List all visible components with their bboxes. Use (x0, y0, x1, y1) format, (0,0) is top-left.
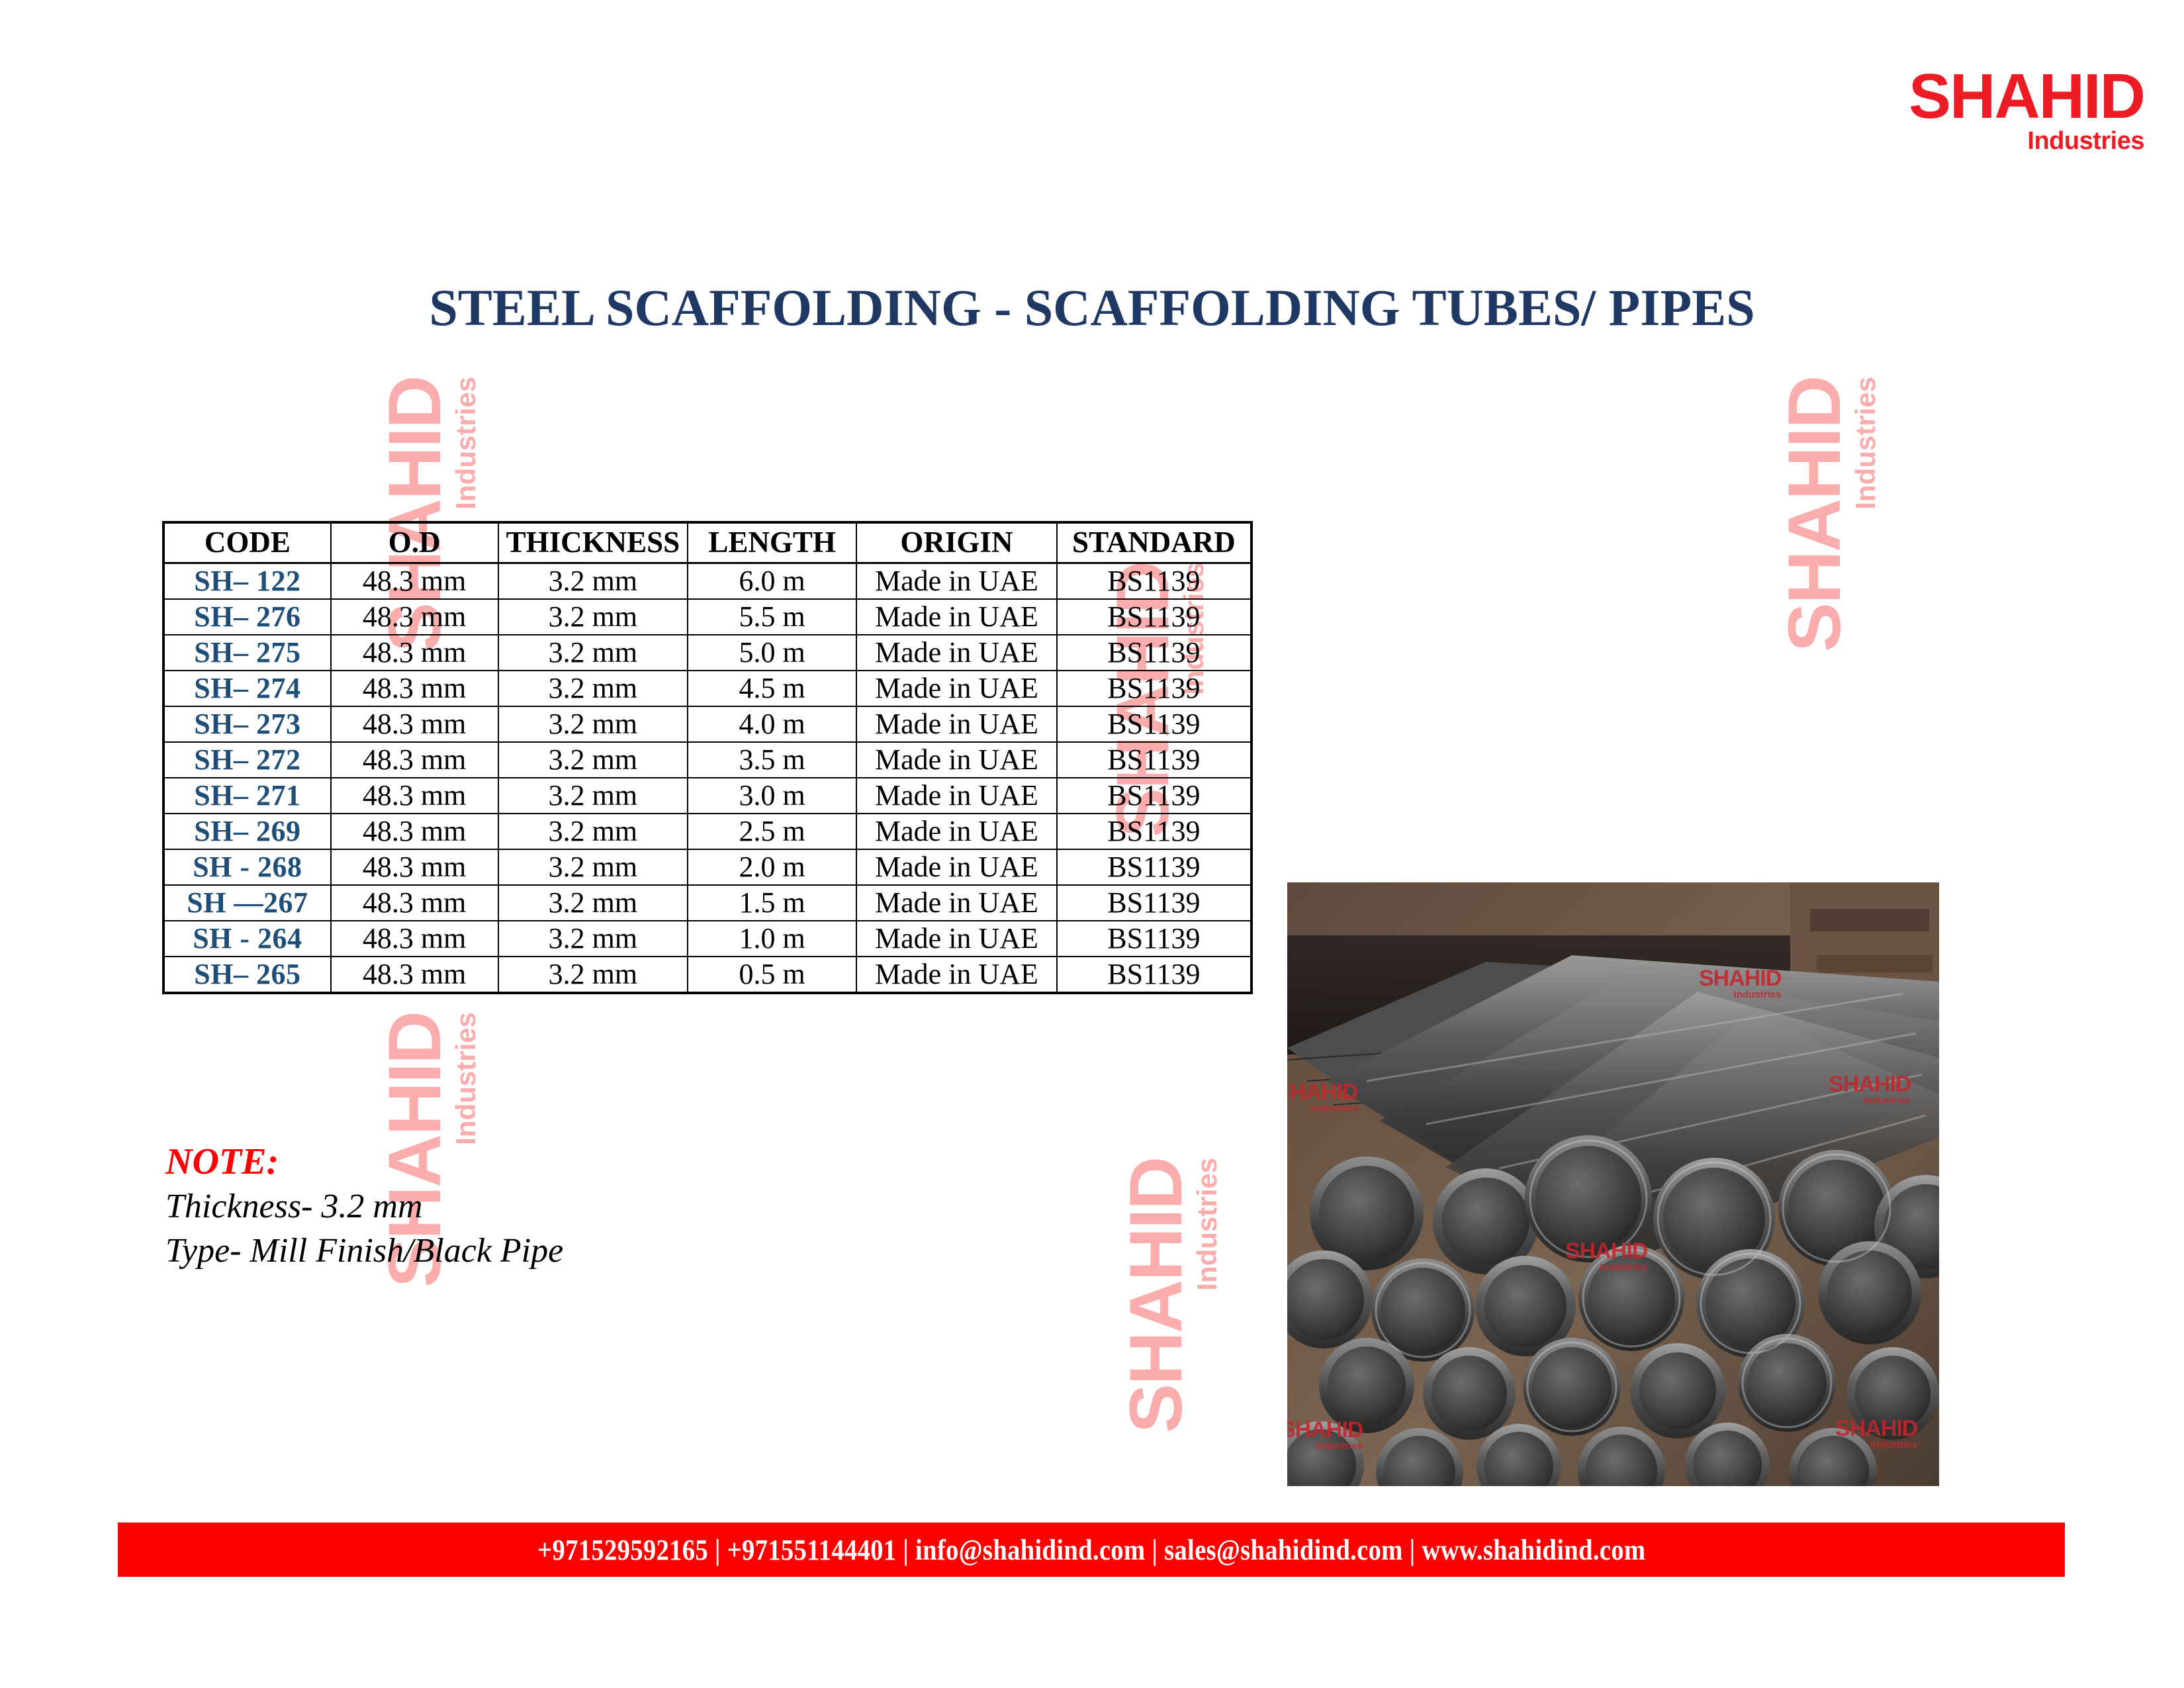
company-logo: SHAHID Industries (1909, 66, 2144, 156)
cell-origin: Made in UAE (856, 742, 1057, 778)
cell-standard: BS1139 (1057, 706, 1251, 742)
logo-tagline: Industries (1909, 128, 2144, 156)
cell-standard: BS1139 (1057, 921, 1251, 957)
cell-od: 48.3 mm (331, 599, 498, 635)
cell-standard: BS1139 (1057, 814, 1251, 849)
cell-standard: BS1139 (1057, 778, 1251, 814)
cell-thickness: 3.2 mm (498, 599, 688, 635)
cell-origin: Made in UAE (856, 957, 1057, 993)
cell-origin: Made in UAE (856, 814, 1057, 849)
cell-standard: BS1139 (1057, 635, 1251, 671)
cell-od: 48.3 mm (331, 671, 498, 706)
cell-code: SH– 275 (163, 635, 331, 671)
cell-origin: Made in UAE (856, 885, 1057, 921)
footer-contact-bar: +971529592165 | +971551144401 | info@sha… (118, 1523, 2065, 1577)
watermark-sub: Industries (1852, 377, 1880, 652)
table-row: SH– 26948.3 mm3.2 mm2.5 mMade in UAEBS11… (163, 814, 1251, 849)
column-header-od: O.D (331, 522, 498, 563)
cell-length: 0.5 m (688, 957, 856, 993)
table-header: CODE O.D THICKNESS LENGTH ORIGIN STANDAR… (163, 522, 1251, 563)
cell-standard: BS1139 (1057, 563, 1251, 600)
column-header-origin: ORIGIN (856, 522, 1057, 563)
cell-length: 4.0 m (688, 706, 856, 742)
cell-thickness: 3.2 mm (498, 849, 688, 885)
column-header-thickness: THICKNESS (498, 522, 688, 563)
cell-length: 4.5 m (688, 671, 856, 706)
cell-origin: Made in UAE (856, 671, 1057, 706)
table-row: SH– 27548.3 mm3.2 mm5.0 mMade in UAEBS11… (163, 635, 1251, 671)
column-header-length: LENGTH (688, 522, 856, 563)
cell-length: 1.0 m (688, 921, 856, 957)
cell-od: 48.3 mm (331, 849, 498, 885)
cell-od: 48.3 mm (331, 921, 498, 957)
cell-thickness: 3.2 mm (498, 635, 688, 671)
cell-length: 1.5 m (688, 885, 856, 921)
watermark-main: SHAHID (1778, 377, 1852, 652)
cell-length: 5.0 m (688, 635, 856, 671)
cell-od: 48.3 mm (331, 706, 498, 742)
cell-code: SH– 274 (163, 671, 331, 706)
note-line-thickness: Thickness- 3.2 mm (165, 1185, 563, 1229)
cell-length: 3.0 m (688, 778, 856, 814)
logo-wordmark: SHAHID (1909, 66, 2144, 126)
note-block: NOTE: Thickness- 3.2 mm Type- Mill Finis… (165, 1139, 563, 1273)
cell-thickness: 3.2 mm (498, 706, 688, 742)
cell-thickness: 3.2 mm (498, 563, 688, 600)
cell-code: SH - 264 (163, 921, 331, 957)
watermark: SHAHID Industries (1778, 377, 1880, 652)
cell-od: 48.3 mm (331, 635, 498, 671)
cell-length: 6.0 m (688, 563, 856, 600)
table-row: SH– 27348.3 mm3.2 mm4.0 mMade in UAEBS11… (163, 706, 1251, 742)
page-title: STEEL SCAFFOLDING - SCAFFOLDING TUBES/ P… (0, 278, 2184, 338)
cell-length: 2.5 m (688, 814, 856, 849)
note-line-type: Type- Mill Finish/Black Pipe (165, 1229, 563, 1274)
cell-origin: Made in UAE (856, 849, 1057, 885)
table-row: SH - 26448.3 mm3.2 mm1.0 mMade in UAEBS1… (163, 921, 1251, 957)
cell-thickness: 3.2 mm (498, 778, 688, 814)
table-row: SH– 27648.3 mm3.2 mm5.5 mMade in UAEBS11… (163, 599, 1251, 635)
table-row: SH - 26848.3 mm3.2 mm2.0 mMade in UAEBS1… (163, 849, 1251, 885)
cell-standard: BS1139 (1057, 742, 1251, 778)
cell-thickness: 3.2 mm (498, 814, 688, 849)
cell-code: SH– 271 (163, 778, 331, 814)
cell-od: 48.3 mm (331, 563, 498, 600)
cell-thickness: 3.2 mm (498, 957, 688, 993)
cell-code: SH– 273 (163, 706, 331, 742)
cell-thickness: 3.2 mm (498, 885, 688, 921)
product-photo: SHAHID Industries SHAHID Industries SHAH… (1287, 882, 1939, 1486)
cell-od: 48.3 mm (331, 814, 498, 849)
cell-code: SH– 276 (163, 599, 331, 635)
cell-origin: Made in UAE (856, 921, 1057, 957)
table-row: SH– 27148.3 mm3.2 mm3.0 mMade in UAEBS11… (163, 778, 1251, 814)
cell-code: SH– 269 (163, 814, 331, 849)
footer-contact-text[interactable]: +971529592165 | +971551144401 | info@sha… (537, 1533, 1645, 1567)
cell-origin: Made in UAE (856, 706, 1057, 742)
cell-thickness: 3.2 mm (498, 671, 688, 706)
cell-thickness: 3.2 mm (498, 742, 688, 778)
table-header-row: CODE O.D THICKNESS LENGTH ORIGIN STANDAR… (163, 522, 1251, 563)
table-row: SH– 26548.3 mm3.2 mm0.5 mMade in UAEBS11… (163, 957, 1251, 993)
cell-code: SH– 122 (163, 563, 331, 600)
cell-code: SH– 265 (163, 957, 331, 993)
cell-standard: BS1139 (1057, 671, 1251, 706)
cell-standard: BS1139 (1057, 849, 1251, 885)
cell-origin: Made in UAE (856, 563, 1057, 600)
watermark-main: SHAHID (1119, 1158, 1193, 1433)
table-row: SH– 27248.3 mm3.2 mm3.5 mMade in UAEBS11… (163, 742, 1251, 778)
cell-origin: Made in UAE (856, 599, 1057, 635)
cell-od: 48.3 mm (331, 742, 498, 778)
cell-standard: BS1139 (1057, 599, 1251, 635)
cell-origin: Made in UAE (856, 778, 1057, 814)
note-heading: NOTE: (165, 1139, 563, 1185)
watermark: SHAHID Industries (1119, 1158, 1221, 1433)
cell-code: SH - 268 (163, 849, 331, 885)
table-row: SH– 27448.3 mm3.2 mm4.5 mMade in UAEBS11… (163, 671, 1251, 706)
specification-table: CODE O.D THICKNESS LENGTH ORIGIN STANDAR… (162, 521, 1253, 994)
cell-length: 3.5 m (688, 742, 856, 778)
cell-origin: Made in UAE (856, 635, 1057, 671)
cell-od: 48.3 mm (331, 957, 498, 993)
cell-od: 48.3 mm (331, 885, 498, 921)
cell-standard: BS1139 (1057, 957, 1251, 993)
table-row: SH– 12248.3 mm3.2 mm6.0 mMade in UAEBS11… (163, 563, 1251, 600)
cell-length: 5.5 m (688, 599, 856, 635)
table-row: SH —26748.3 mm3.2 mm1.5 mMade in UAEBS11… (163, 885, 1251, 921)
cell-length: 2.0 m (688, 849, 856, 885)
cell-code: SH —267 (163, 885, 331, 921)
cell-code: SH– 272 (163, 742, 331, 778)
table-body: SH– 12248.3 mm3.2 mm6.0 mMade in UAEBS11… (163, 563, 1251, 994)
cell-standard: BS1139 (1057, 885, 1251, 921)
cell-od: 48.3 mm (331, 778, 498, 814)
column-header-code: CODE (163, 522, 331, 563)
watermark-sub: Industries (1193, 1158, 1221, 1433)
cell-thickness: 3.2 mm (498, 921, 688, 957)
column-header-standard: STANDARD (1057, 522, 1251, 563)
